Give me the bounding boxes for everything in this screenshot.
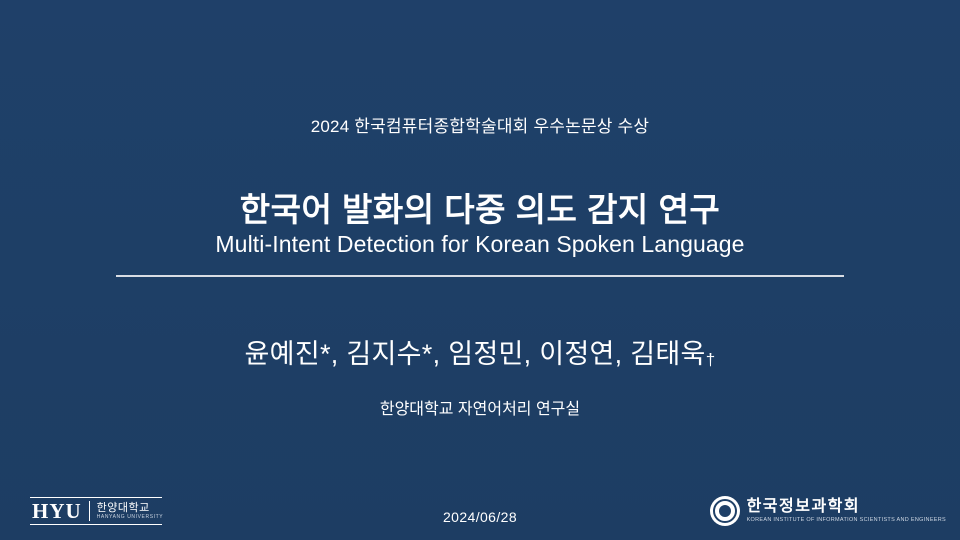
title-korean: 한국어 발화의 다중 의도 감지 연구 [0,183,960,231]
kiise-name-korean: 한국정보과학회 [747,498,946,516]
kiise-name-block: 한국정보과학회 KOREAN INSTITUTE OF INFORMATION … [747,498,946,524]
hyu-name-block: 한양대학교 HANYANG UNIVERSITY [97,497,164,525]
hyu-name-english: HANYANG UNIVERSITY [97,514,164,521]
kiise-logo: 한국정보과학회 KOREAN INSTITUTE OF INFORMATION … [710,494,946,528]
author-list: 윤예진*, 김지수*, 임정민, 이정연, 김태욱† [0,332,960,371]
hanyang-university-logo: HYU 한양대학교 HANYANG UNIVERSITY [30,497,163,525]
hyu-rule-bottom-icon [30,524,162,525]
kiise-name-english: KOREAN INSTITUTE OF INFORMATION SCIENTIS… [747,516,946,524]
title-divider [116,275,844,277]
title-slide: 2024 한국컴퓨터종합학술대회 우수논문상 수상 한국어 발화의 다중 의도 … [0,0,960,540]
hyu-rule-top-icon [30,497,162,498]
kiise-emblem-icon [710,496,740,526]
hyu-divider-icon [89,501,90,521]
affiliation: 한양대학교 자연어처리 연구실 [0,395,960,419]
hyu-name-korean: 한양대학교 [97,502,164,514]
title-english: Multi-Intent Detection for Korean Spoken… [0,231,960,258]
hyu-wordmark: HYU [30,497,82,525]
author-names: 윤예진*, 김지수*, 임정민, 이정연, 김태욱 [245,339,706,369]
author-dagger: † [706,350,716,369]
award-line: 2024 한국컴퓨터종합학술대회 우수논문상 수상 [0,112,960,137]
